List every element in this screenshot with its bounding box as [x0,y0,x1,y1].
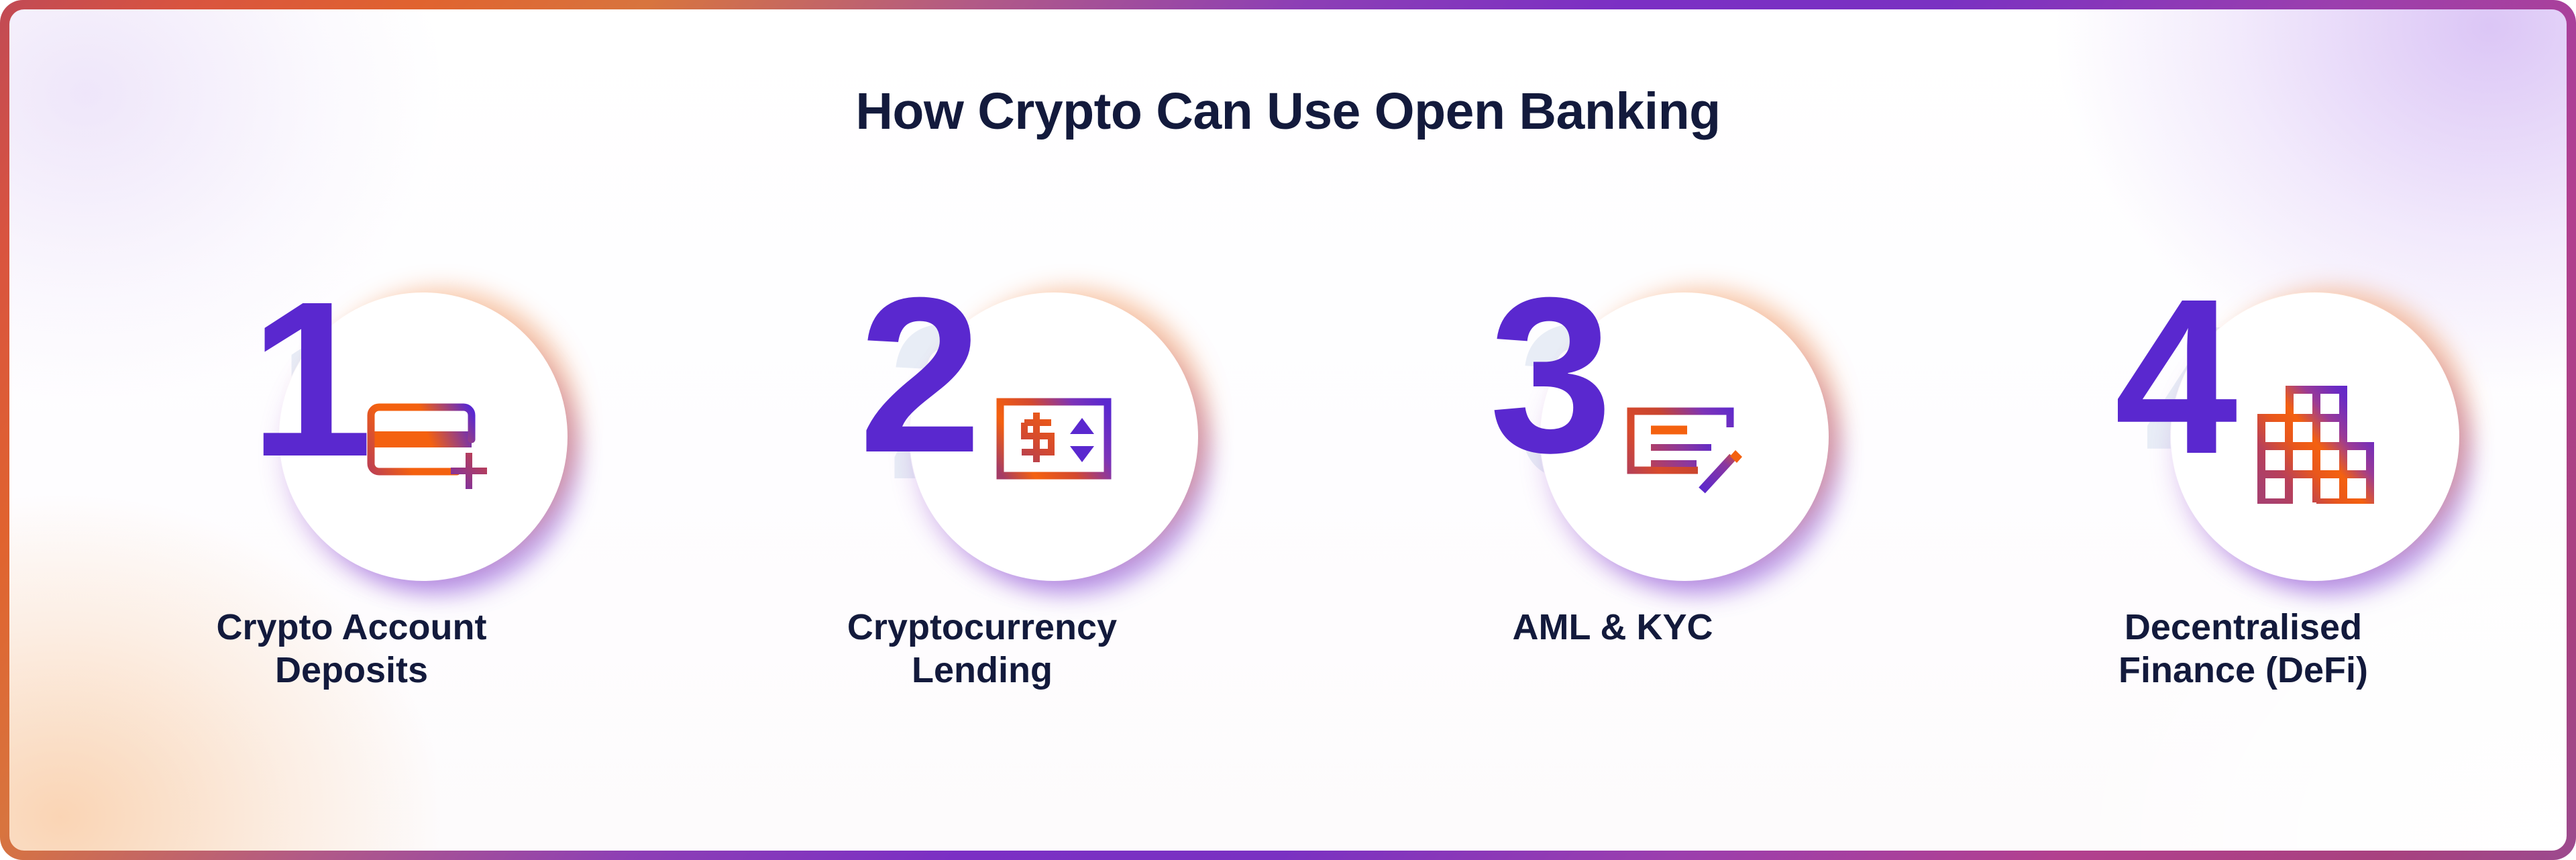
step-4-graphic: 4 [1955,251,2532,593]
blocks-building-icon [2248,370,2382,504]
step-3-number: 3 [1489,264,1613,486]
document-pencil-icon [1617,370,1752,504]
step-2-number: 2 [859,264,982,486]
infographic-frame: How Crypto Can Use Open Banking 1 [0,0,2576,860]
step-3-label: AML & KYC [1405,606,1821,649]
banknote-exchange-icon [987,370,1121,504]
steps-row: 1 [36,251,2559,692]
step-3-graphic: 3 [1324,251,1901,593]
step-4-number: 4 [2114,266,2238,487]
step-1-number: 1 [250,268,373,490]
credit-card-plus-icon [356,370,490,504]
step-1-label: Crypto Account Deposits [144,606,559,692]
step-4-label: Decentralised Finance (DeFi) [2035,606,2451,692]
page-title: How Crypto Can Use Open Banking [9,82,2567,142]
step-1-graphic: 1 [63,251,640,593]
step-card-1[interactable]: 1 [63,251,640,692]
step-2-label: Cryptocurrency Lending [774,606,1190,692]
step-card-4[interactable]: 4 [1955,251,2532,692]
infographic-canvas: How Crypto Can Use Open Banking 1 [9,9,2567,851]
step-card-3[interactable]: 3 [1324,251,1901,649]
step-card-2[interactable]: 2 [694,251,1271,692]
step-2-graphic: 2 [694,251,1271,593]
